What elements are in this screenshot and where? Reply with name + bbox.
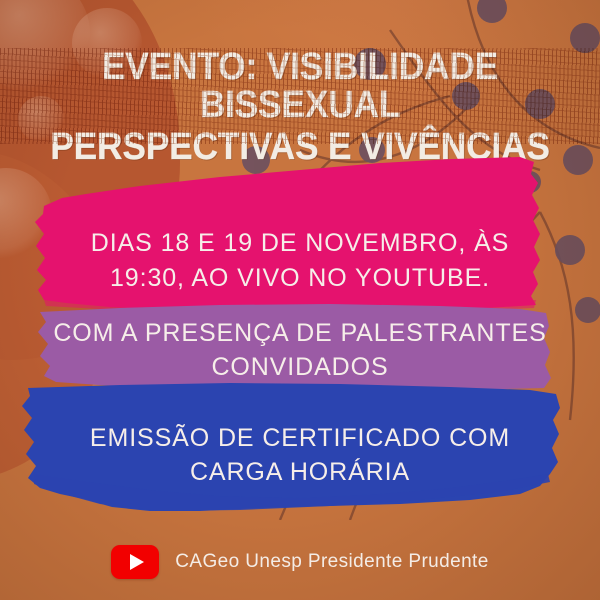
blue-band-line-1: EMISSÃO DE CERTIFICADO COM [0, 421, 600, 456]
info-band-dates: DIAS 18 E 19 DE NOVEMBRO, ÀS 19:30, AO V… [0, 150, 600, 315]
event-poster: EVENTO: VISIBILIDADE BISSEXUAL PERSPECTI… [0, 0, 600, 600]
info-band-speakers: COM A PRESENÇA DE PALESTRANTES CONVIDADO… [0, 300, 600, 392]
pink-band-line-1: DIAS 18 E 19 DE NOVEMBRO, ÀS [0, 226, 600, 261]
purple-band-text: COM A PRESENÇA DE PALESTRANTES CONVIDADO… [0, 308, 600, 385]
play-triangle [130, 554, 144, 570]
purple-band-line-1: COM A PRESENÇA DE PALESTRANTES [0, 316, 600, 351]
pink-band-text: DIAS 18 E 19 DE NOVEMBRO, ÀS 19:30, AO V… [0, 170, 600, 295]
purple-band-line-2: CONVIDADOS [0, 350, 600, 385]
blue-band-line-2: CARGA HORÁRIA [0, 455, 600, 490]
blue-band-text: EMISSÃO DE CERTIFICADO COM CARGA HORÁRIA [0, 407, 600, 490]
pink-band-line-2: 19:30, AO VIVO NO YOUTUBE. [0, 261, 600, 296]
footer-channel[interactable]: CAGeo Unesp Presidente Prudente [0, 545, 600, 579]
title-line-1: EVENTO: VISIBILIDADE BISSEXUAL [21, 48, 579, 124]
channel-name-label: CAGeo Unesp Presidente Prudente [175, 551, 488, 573]
info-band-certificate: EMISSÃO DE CERTIFICADO COM CARGA HORÁRIA [0, 378, 600, 518]
youtube-play-icon[interactable] [111, 545, 159, 579]
poster-title: EVENTO: VISIBILIDADE BISSEXUAL PERSPECTI… [0, 48, 600, 166]
